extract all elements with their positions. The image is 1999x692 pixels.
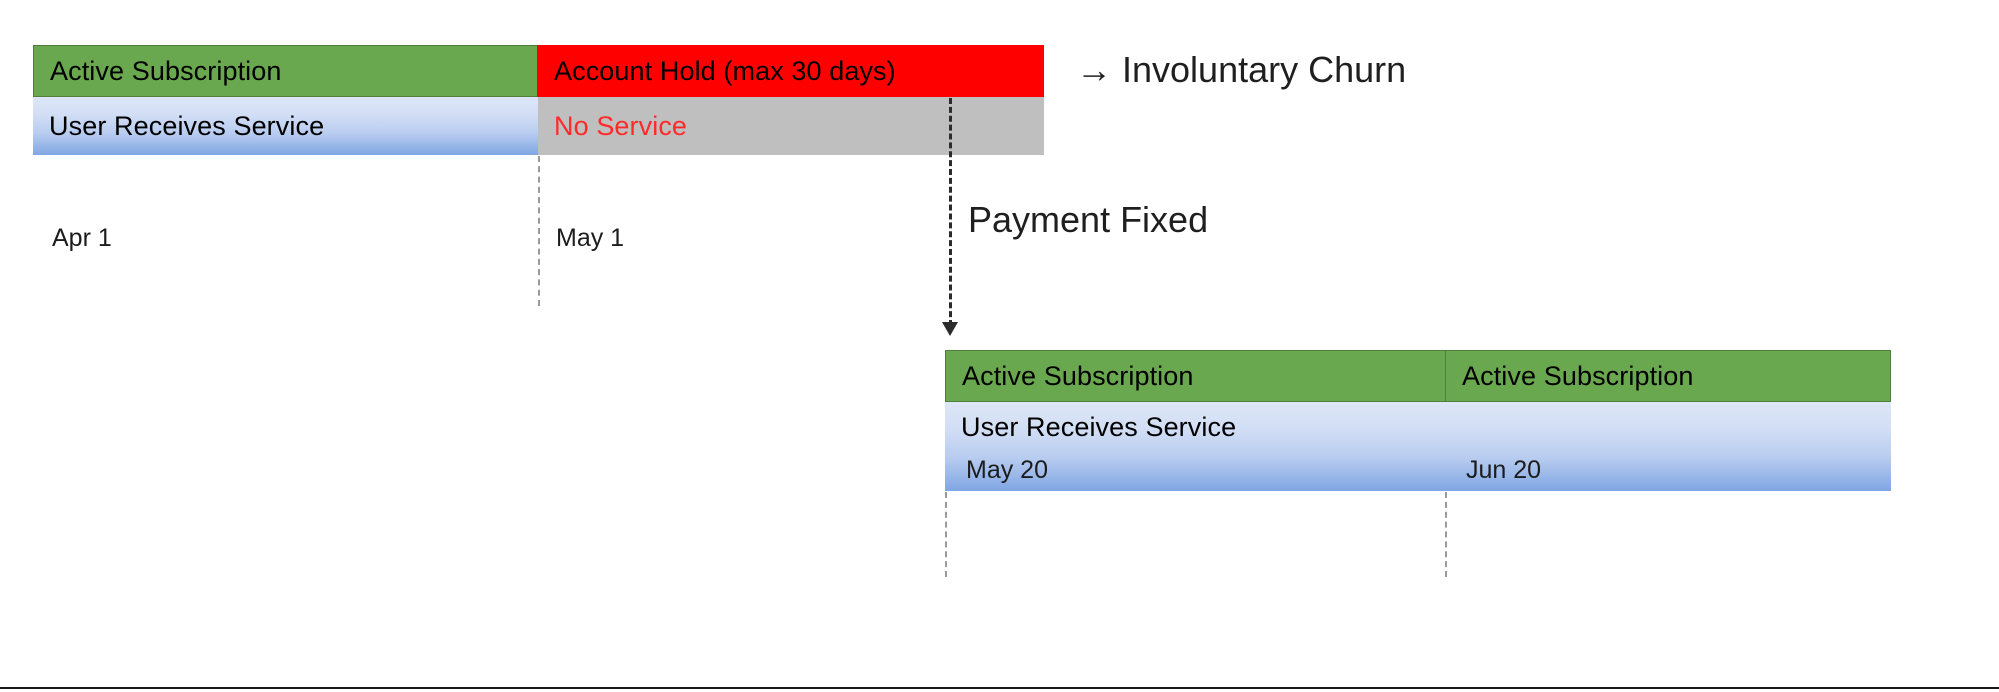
top-bar-user-receives-service: User Receives Service — [33, 97, 538, 155]
top-timeline-date-apr-1: Apr 1 — [52, 226, 112, 251]
annotation-payment-fixed: Payment Fixed — [968, 202, 1208, 238]
bottom-bar-active-subscription-1-label: Active Subscription — [946, 363, 1194, 390]
top-bar-active-subscription-label: Active Subscription — [34, 58, 282, 85]
top-bar-active-subscription: Active Subscription — [33, 45, 538, 97]
bottom-bar-active-subscription-2: Active Subscription — [1445, 350, 1891, 402]
bottom-timeline-guide-jun-20 — [1445, 492, 1447, 577]
top-bar-account-hold: Account Hold (max 30 days) — [537, 45, 1044, 97]
payment-fixed-connector-line — [949, 98, 952, 326]
top-bar-no-service: No Service — [538, 97, 1044, 155]
bottom-timeline-date-jun-20: Jun 20 — [1466, 458, 1541, 483]
annotation-involuntary-churn: → Involuntary Churn — [1076, 52, 1406, 88]
top-timeline-date-may-1: May 1 — [556, 226, 624, 251]
footer-divider — [0, 687, 1999, 689]
bottom-timeline-guide-may-20 — [945, 492, 947, 577]
bottom-bar-active-subscription-1: Active Subscription — [945, 350, 1446, 402]
bottom-bar-active-subscription-2-label: Active Subscription — [1446, 363, 1694, 390]
payment-fixed-arrow-icon — [942, 322, 958, 336]
top-bar-no-service-label: No Service — [538, 113, 687, 140]
bottom-bar-user-receives-service: User Receives Service — [945, 402, 1891, 491]
top-timeline-guide-may-1 — [538, 156, 540, 306]
top-bar-account-hold-label: Account Hold (max 30 days) — [538, 58, 896, 85]
bottom-timeline-date-may-20: May 20 — [966, 458, 1048, 483]
top-bar-user-receives-service-label: User Receives Service — [33, 113, 324, 140]
bottom-bar-user-receives-service-label: User Receives Service — [945, 402, 1236, 441]
diagram-canvas: Active Subscription Account Hold (max 30… — [0, 0, 1999, 692]
